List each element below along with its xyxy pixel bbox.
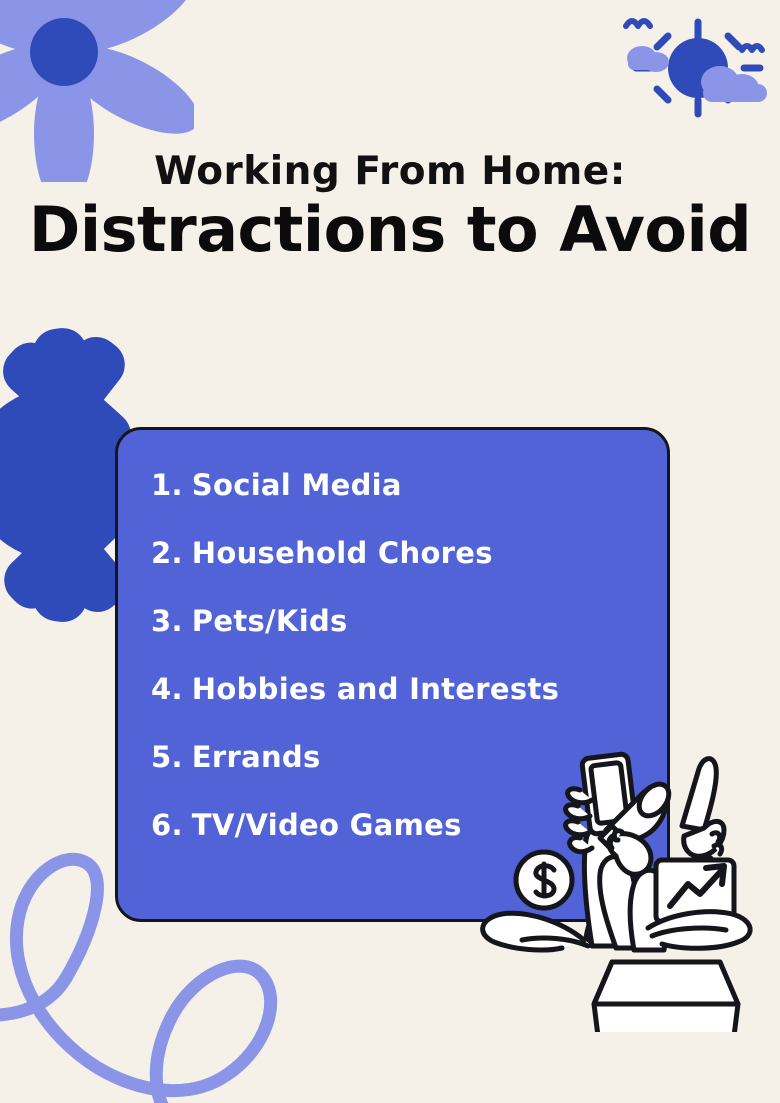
cloud-large-icon [701, 66, 767, 102]
list-item: 3. Pets/Kids [151, 604, 559, 672]
list-item-number: 6. [151, 808, 183, 842]
title-line-2: Distractions to Avoid [0, 195, 780, 264]
page-title: Working From Home: Distractions to Avoid [0, 152, 780, 264]
title-line-1: Working From Home: [0, 152, 780, 193]
cardboard-box-icon [594, 962, 738, 1032]
bird-squiggle-icon [626, 21, 762, 50]
hands-in-box-illustration [466, 732, 766, 1032]
poster-canvas: Working From Home: Distractions to Avoid… [0, 0, 780, 1103]
list-item-number: 3. [151, 604, 183, 638]
list-item-number: 5. [151, 740, 183, 774]
list-item-label: Social Media [192, 468, 402, 502]
cloud-small-icon [627, 46, 669, 72]
list-item-label: Errands [192, 740, 321, 774]
list-item-label: TV/Video Games [192, 808, 462, 842]
list-item-label: Hobbies and Interests [192, 672, 559, 706]
sun-disc-icon [668, 38, 728, 98]
list-item: 4. Hobbies and Interests [151, 672, 559, 740]
sun-ray-group [636, 22, 760, 114]
list-item: 2. Household Chores [151, 536, 559, 604]
list-item-label: Pets/Kids [192, 604, 348, 638]
list-item-label: Household Chores [192, 536, 493, 570]
sun-with-clouds-icon [608, 6, 772, 134]
list-item-number: 4. [151, 672, 183, 706]
list-item-number: 2. [151, 536, 183, 570]
list-item: 1. Social Media [151, 468, 559, 536]
list-item-number: 1. [151, 468, 183, 502]
dollar-coin-icon [516, 852, 572, 908]
